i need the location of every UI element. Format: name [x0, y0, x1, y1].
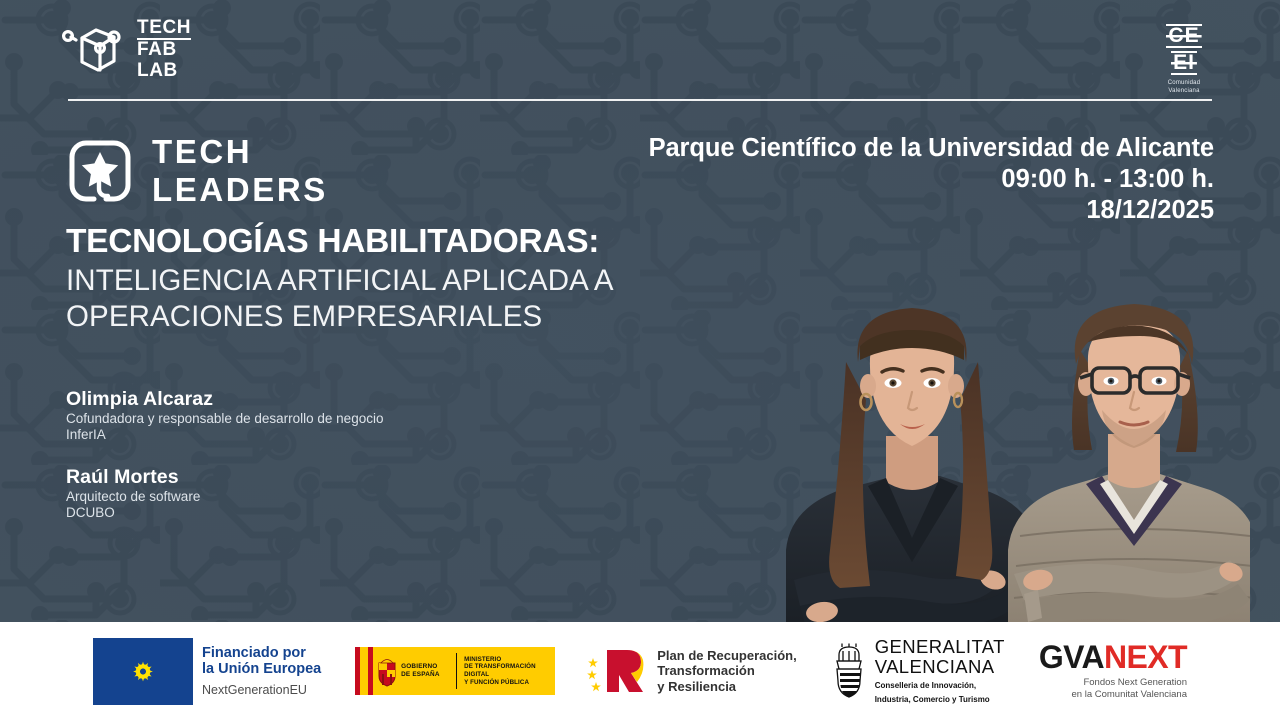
gobierno-line2: DE ESPAÑA	[401, 671, 449, 679]
cube-circuit-icon	[62, 20, 124, 78]
speakers-list: Olimpia Alcaraz Cofundadora y responsabl…	[66, 388, 486, 520]
ministerio-line2: DE TRANSFORMACIÓN DIGITAL	[464, 663, 555, 678]
speaker-item: Raúl Mortes Arquitecto de software DCUBO	[66, 466, 486, 520]
event-details: Parque Científico de la Universidad de A…	[649, 133, 1214, 226]
event-date: 18/12/2025	[649, 195, 1214, 226]
speaker-name: Olimpia Alcaraz	[66, 388, 486, 411]
prtr-line2: Transformación	[657, 663, 796, 679]
tech-leaders-line2: LEADERS	[152, 171, 328, 209]
speaker-role: Cofundadora y responsable de desarrollo …	[66, 411, 486, 427]
eu-subtext: NextGenerationEU	[202, 682, 321, 698]
gobierno-line1: GOBIERNO	[401, 663, 449, 671]
event-venue: Parque Científico de la Universidad de A…	[649, 133, 1214, 164]
eu-text-line1: Financiado por	[202, 645, 321, 662]
prtr-line1: Plan de Recuperación,	[657, 648, 796, 664]
prtr-line3: y Resiliencia	[657, 679, 796, 695]
ceei-logo[interactable]: CE EI Comunidad Valenciana	[1150, 24, 1218, 95]
speakers-photo	[690, 250, 1250, 622]
page-subtitle-line1: INTELIGENCIA ARTIFICIAL APLICADA A	[66, 264, 746, 297]
speaker-item: Olimpia Alcaraz Cofundadora y responsabl…	[66, 388, 486, 442]
tech-leaders-logo[interactable]: TECH LEADERS	[66, 133, 328, 209]
speaker-name: Raúl Mortes	[66, 466, 486, 489]
tech-leaders-wordmark: TECH LEADERS	[152, 133, 328, 209]
ceei-subtitle: Comunidad Valenciana	[1150, 80, 1218, 95]
ministerio-line3: Y FUNCIÓN PÚBLICA	[464, 679, 555, 687]
techfablab-wordmark: TECH FAB LAB	[137, 17, 191, 81]
person-left	[786, 308, 1038, 622]
gvanext-sub2: en la Comunitat Valenciana	[1072, 689, 1187, 701]
techfablab-line2: FAB	[137, 38, 191, 61]
prtr-r-icon	[587, 646, 649, 696]
gvanext-word-black: GVA	[1039, 641, 1104, 674]
ceei-line2: EI	[1171, 51, 1197, 75]
generalitat-valenciana-logo: GENERALITAT VALENCIANA Conselleria de In…	[831, 637, 1005, 705]
gobierno-espana-logo: GOBIERNO DE ESPAÑA MINISTERIO DE TRANSFO…	[355, 647, 555, 695]
generalitat-line2: VALENCIANA	[875, 657, 1005, 677]
techfablab-line1: TECH	[137, 17, 191, 38]
ceei-sub2: Valenciana	[1150, 88, 1218, 96]
generalitat-crest-icon	[831, 643, 867, 699]
techfablab-logo[interactable]: TECH FAB LAB	[62, 17, 191, 81]
eu-text-line2: la Unión Europea	[202, 661, 321, 678]
event-time: 09:00 h. - 13:00 h.	[649, 164, 1214, 195]
spain-crest-icon	[373, 647, 401, 695]
techfablab-line3: LAB	[137, 60, 191, 81]
eu-flag-icon	[93, 638, 193, 705]
spain-flag-stripes	[355, 647, 373, 695]
tech-leaders-line1: TECH	[152, 133, 328, 171]
gvanext-sub1: Fondos Next Generation	[1072, 677, 1187, 689]
speaker-role: Arquitecto de software	[66, 489, 486, 505]
funding-footer: Financiado por la Unión Europea NextGene…	[0, 622, 1280, 720]
gvanext-logo: GVA NEXT Fondos Next Generation en la Co…	[1039, 641, 1187, 701]
generalitat-sub2: Industria, Comercio y Turismo	[875, 695, 1005, 705]
generalitat-sub1: Conselleria de Innovación,	[875, 681, 1005, 691]
title-block: TECNOLOGÍAS HABILITADORAS: INTELIGENCIA …	[66, 222, 746, 333]
gvanext-word-red: NEXT	[1104, 641, 1187, 674]
prtr-logo: Plan de Recuperación, Transformación y R…	[587, 646, 796, 696]
person-right	[1008, 304, 1250, 622]
event-poster: TECH FAB LAB CE EI Comunidad Valenciana	[0, 0, 1280, 720]
header-divider	[68, 99, 1212, 101]
ceei-line1: CE	[1166, 24, 1201, 48]
page-title: TECNOLOGÍAS HABILITADORAS:	[66, 222, 746, 261]
speaker-org: DCUBO	[66, 505, 486, 521]
generalitat-line1: GENERALITAT	[875, 637, 1005, 657]
star-badge-icon	[66, 137, 134, 205]
speaker-org: InferIA	[66, 427, 486, 443]
page-subtitle-line2: OPERACIONES EMPRESARIALES	[66, 300, 746, 333]
eu-funding-logo: Financiado por la Unión Europea NextGene…	[93, 638, 321, 705]
ceei-sub1: Comunidad	[1150, 80, 1218, 88]
header-bar: TECH FAB LAB CE EI Comunidad Valenciana	[0, 0, 1280, 100]
gobierno-separator	[456, 653, 457, 689]
